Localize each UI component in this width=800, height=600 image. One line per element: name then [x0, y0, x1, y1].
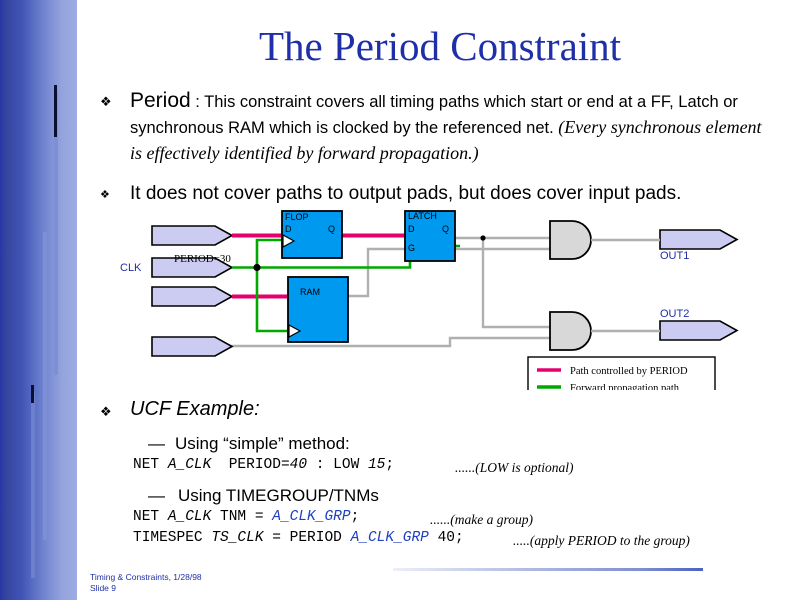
input-pad-4: [152, 337, 232, 356]
bullet-ucf-text: UCF Example:: [130, 398, 500, 421]
block-latch-g-label: G: [408, 243, 415, 253]
ucf-code-2: NET A_CLK TNM = A_CLK_GRP;: [133, 509, 359, 525]
input-pad-3: [152, 287, 232, 306]
bullet-marker-icon: ❖: [100, 404, 112, 420]
bullet-pads-text: It does not cover paths to output pads, …: [130, 183, 760, 205]
block-flop-q-label: Q: [328, 224, 335, 234]
block-latch-q-label: Q: [442, 224, 449, 234]
band-line-3-cap: [54, 85, 57, 137]
ucf-dash-2: —: [148, 486, 165, 506]
out1-label: OUT1: [660, 250, 689, 262]
block-flop-d-label: D: [285, 224, 292, 234]
footer-line-2: Slide 9: [90, 583, 202, 594]
block-latch: LATCH D Q G: [405, 211, 455, 261]
bullet-ucf: ❖ UCF Example:: [100, 398, 500, 421]
ucf-note-1: ......(LOW is optional): [455, 460, 574, 476]
diagram-legend: Path controlled by PERIOD Forward propag…: [528, 357, 715, 390]
left-decorative-band: [0, 0, 77, 600]
block-latch-title: LATCH: [408, 211, 437, 221]
ucf-sublabel-2: Using TIMEGROUP/TNMs: [178, 486, 379, 506]
footer-rule: [393, 568, 703, 571]
out2-label: OUT2: [660, 308, 689, 320]
slide-canvas: The Period Constraint ❖ Period : This co…: [0, 0, 800, 600]
output-pad-out1: [660, 230, 737, 249]
block-latch-d-label: D: [408, 224, 415, 234]
clk-label: CLK: [120, 262, 142, 274]
footer-line-1: Timing & Constraints, 1/28/98: [90, 572, 202, 583]
clk-junction-dot: [253, 264, 260, 271]
band-line-1-cap: [31, 385, 34, 403]
block-ram: RAM: [288, 277, 348, 342]
band-line-1: [31, 393, 35, 578]
band-line-2: [43, 232, 47, 540]
bullet-pads: ❖ It does not cover paths to output pads…: [100, 183, 760, 205]
bullet-marker-icon: ❖: [100, 94, 112, 110]
legend-label-period: Path controlled by PERIOD: [570, 366, 688, 377]
bullet-marker-icon: ❖: [100, 188, 110, 201]
legend-label-forward: Forward propagation path: [570, 383, 680, 390]
ucf-note-3: .....(apply PERIOD to the group): [513, 533, 690, 549]
input-pad-1: [152, 226, 232, 245]
page-title: The Period Constraint: [90, 22, 790, 70]
bullet-period: ❖ Period : This constraint covers all ti…: [100, 88, 765, 167]
block-flop-title: FLOP: [285, 212, 309, 222]
ucf-code-1: NET A_CLK PERIOD=40 : LOW 15;: [133, 457, 394, 473]
ucf-code-3: TIMESPEC TS_CLK = PERIOD A_CLK_GRP 40;: [133, 530, 464, 546]
ucf-dash-1: —: [148, 434, 165, 454]
block-ram-title: RAM: [300, 287, 320, 297]
ucf-note-2: ......(make a group): [430, 512, 533, 528]
footer: Timing & Constraints, 1/28/98 Slide 9: [90, 572, 202, 593]
period-value-label: PERIOD=30: [174, 253, 231, 265]
bullet-period-keyword: Period: [130, 89, 191, 112]
wire-junction-dot: [480, 235, 485, 240]
block-flop: FLOP D Q: [282, 211, 342, 258]
circuit-diagram: FLOP D Q LATCH D Q G RAM: [120, 205, 740, 390]
output-pad-out2: [660, 321, 737, 340]
ucf-sublabel-1: Using “simple” method:: [175, 434, 350, 454]
bullet-period-body: Period : This constraint covers all timi…: [130, 88, 765, 167]
